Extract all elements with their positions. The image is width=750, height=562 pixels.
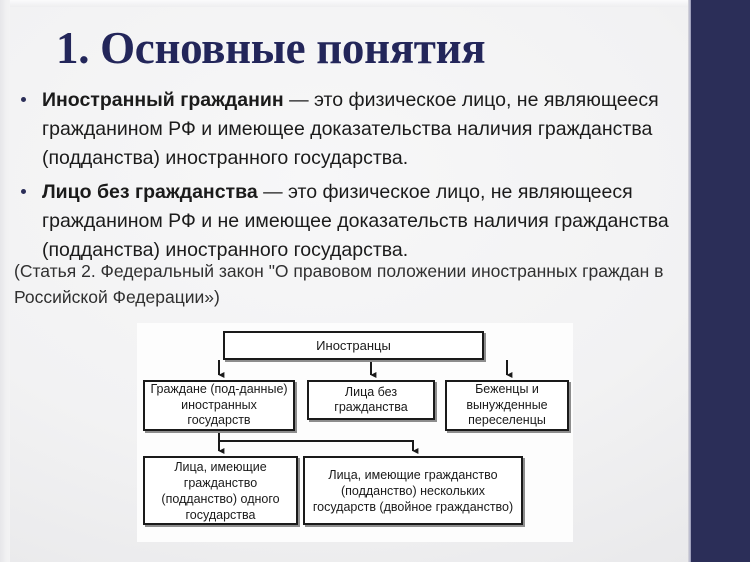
slide-background-left-shade	[0, 0, 10, 562]
classification-diagram: Иностранцы Граждане (под-данные) иностра…	[137, 323, 573, 542]
diagram-node-refugees: Беженцы и вынужденные переселенцы	[445, 380, 569, 431]
diagram-node-root: Иностранцы	[223, 331, 484, 360]
list-item: Лицо без гражданства — это физическое ли…	[14, 178, 686, 265]
diagram-node-label: Лица, имеющие гражданство (подданство) н…	[305, 467, 521, 515]
diagram-node-label: Граждане (под-данные) иностранных госуда…	[145, 382, 293, 429]
source-citation: (Статья 2. Федеральный закон "О правовом…	[14, 258, 674, 310]
bullet-text: Иностранный гражданин — это физическое л…	[42, 86, 686, 173]
diagram-node-single-citizenship: Лица, имеющие гражданство (подданство) о…	[143, 456, 298, 525]
diagram-node-label: Лица, имеющие гражданство (подданство) о…	[145, 459, 296, 523]
diagram-node-multiple-citizenship: Лица, имеющие гражданство (подданство) н…	[303, 456, 523, 525]
page-title: 1. Основные понятия	[56, 20, 656, 76]
bullet-term: Иностранный гражданин	[42, 89, 284, 111]
slide-background-top-highlight	[0, 0, 750, 7]
bullet-term: Лицо без гражданства	[42, 181, 258, 203]
body-copy: Иностранный гражданин — это физическое л…	[14, 86, 686, 270]
right-decorative-band	[691, 0, 750, 562]
slide-canvas: 1. Основные понятия Иностранный граждани…	[0, 0, 750, 562]
diagram-node-label: Лица без гражданства	[309, 385, 433, 416]
diagram-node-label: Иностранцы	[313, 338, 394, 354]
diagram-node-foreign-citizens: Граждане (под-данные) иностранных госуда…	[143, 380, 295, 431]
list-item: Иностранный гражданин — это физическое л…	[14, 86, 686, 173]
bullet-dot-icon	[21, 97, 26, 102]
diagram-node-label: Беженцы и вынужденные переселенцы	[447, 382, 567, 429]
diagram-node-stateless-persons: Лица без гражданства	[307, 380, 435, 420]
bullet-text: Лицо без гражданства — это физическое ли…	[42, 178, 686, 265]
bullet-dot-icon	[21, 189, 26, 194]
